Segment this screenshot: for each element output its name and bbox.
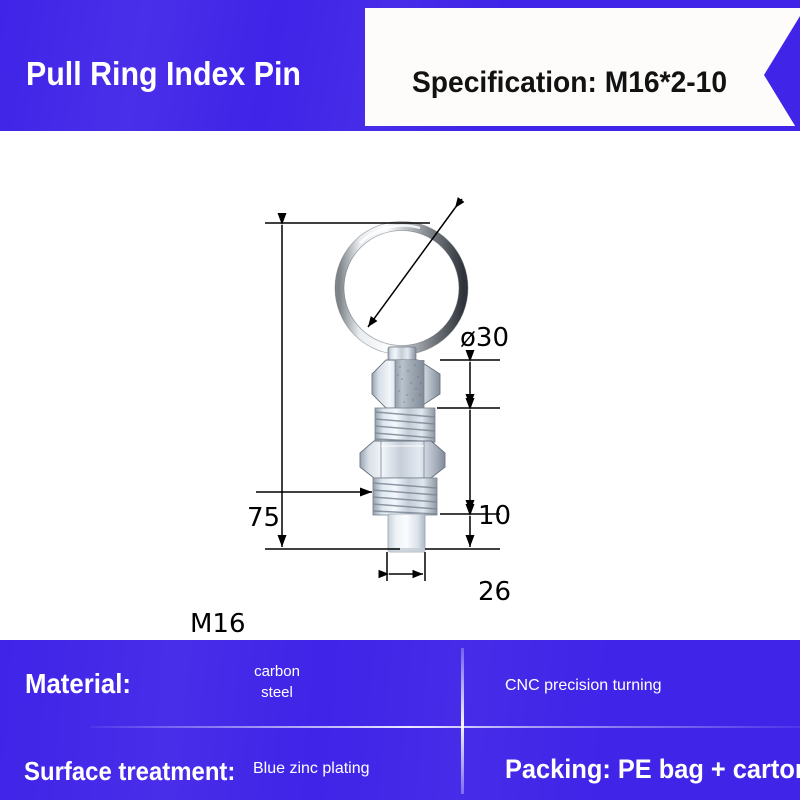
dimension-total-length: 75: [247, 503, 280, 533]
chevron-notch-icon: [764, 16, 800, 134]
drawing-canvas: [0, 131, 800, 636]
material-value: carbon steel: [246, 661, 308, 703]
surface-treatment-label: Surface treatment:: [24, 756, 235, 787]
page-title: Pull Ring Index Pin: [26, 55, 301, 93]
dimension-mid-section: 26: [478, 577, 511, 607]
divider-vertical: [461, 648, 464, 794]
callout-thread-spec: M16: [190, 609, 246, 639]
pull-ring: [340, 226, 464, 350]
divider-horizontal: [90, 726, 800, 728]
packing-label: Packing: PE bag + carton: [505, 754, 800, 785]
product-spec-sheet: Pull Ring Index Pin Specification: M16*2…: [0, 0, 800, 800]
specification-text: Specification: M16*2-10: [412, 66, 727, 100]
dimension-hex-head-height: 10: [478, 501, 511, 531]
pin-tip: [388, 514, 425, 552]
lower-thread: [373, 478, 437, 515]
surface-treatment-value: Blue zinc plating: [253, 760, 370, 778]
hex-head: [372, 360, 440, 408]
ring-collar: [388, 347, 416, 361]
part-illustration: [335, 222, 468, 553]
process-value: CNC precision turning: [505, 677, 662, 695]
upper-thread: [375, 408, 435, 442]
dimension-ring-diameter: ø30: [460, 323, 509, 353]
technical-drawing: 75 ø30 10 26 10 10 M16 Coarse teeth Unit…: [0, 131, 800, 636]
hex-nut: [360, 441, 445, 478]
material-label: Material:: [25, 668, 131, 700]
